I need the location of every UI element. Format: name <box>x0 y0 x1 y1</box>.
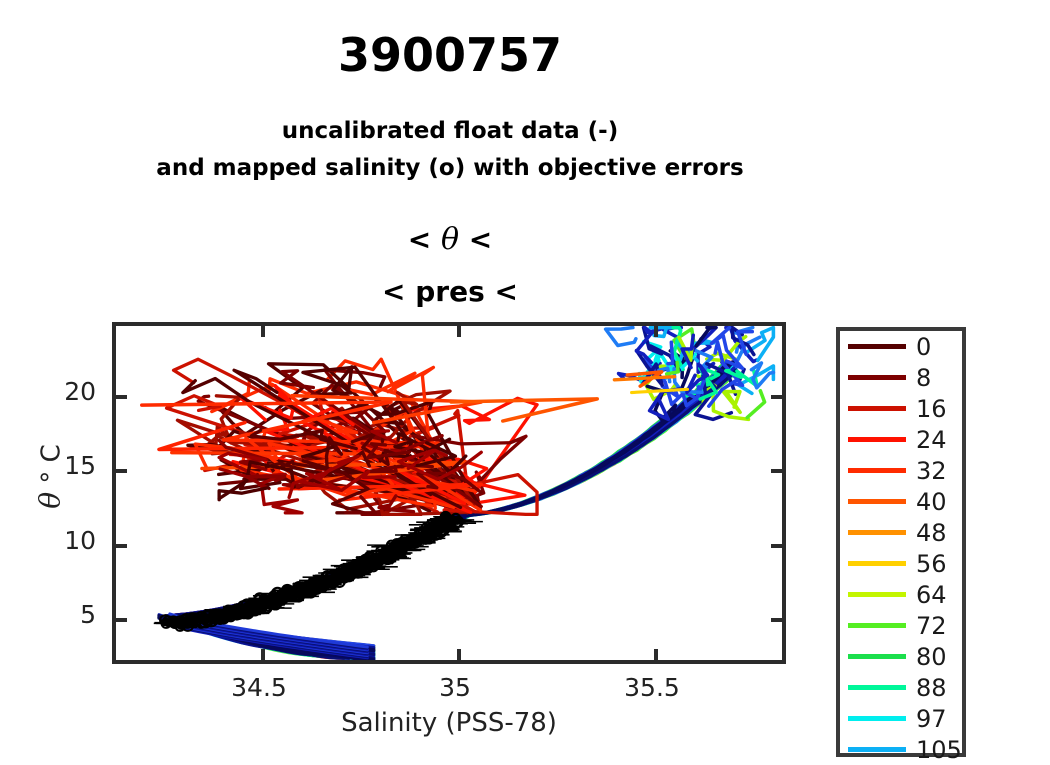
xtick-35-top <box>457 326 461 337</box>
profile-trace <box>456 364 727 516</box>
legend-color-swatch <box>848 344 906 349</box>
profile-trace <box>632 389 688 392</box>
legend-color-swatch <box>848 437 906 442</box>
ytick-5-left <box>116 618 127 622</box>
profile-trace <box>456 365 737 515</box>
xtick-35-bottom <box>457 649 461 660</box>
legend-item-label: 24 <box>916 428 947 452</box>
legend-color-swatch <box>848 592 906 597</box>
profile-trace <box>455 365 725 516</box>
profile-trace <box>455 363 726 516</box>
pres-range-label: < pres < <box>0 275 900 308</box>
ytick-10-right <box>771 544 782 548</box>
ytick-5-right <box>771 618 782 622</box>
pressure-legend[interactable]: 081624324048566472808897105 <box>836 327 966 757</box>
legend-item-label: 64 <box>916 583 947 607</box>
legend-item[interactable]: 16 <box>840 393 962 424</box>
theta-range-label: < θ < <box>0 222 900 257</box>
profile-trace <box>723 392 740 413</box>
xtick-35_5-bottom <box>654 649 658 660</box>
legend-color-swatch <box>848 654 906 659</box>
profile-trace <box>747 391 764 418</box>
profile-trace <box>456 365 726 516</box>
legend-item[interactable]: 56 <box>840 548 962 579</box>
legend-item-label: 16 <box>916 397 947 421</box>
profile-trace <box>668 342 673 363</box>
legend-item-label: 97 <box>916 707 947 731</box>
y-axis-theta-symbol: θ <box>34 492 67 509</box>
legend-color-swatch <box>848 623 906 628</box>
legend-color-swatch <box>848 499 906 504</box>
xtick-35_5-top <box>654 326 658 337</box>
page-title: 3900757 <box>0 32 900 78</box>
legend-color-swatch <box>848 530 906 535</box>
legend-item[interactable]: 64 <box>840 579 962 610</box>
legend-item[interactable]: 40 <box>840 486 962 517</box>
legend-item-label: 40 <box>916 490 947 514</box>
subtitle-line-1: uncalibrated float data (-) <box>0 118 900 144</box>
xtick-34_5-top <box>261 326 265 337</box>
ytick-20-right <box>771 395 782 399</box>
profile-trace <box>456 364 737 516</box>
plot-area[interactable] <box>112 322 786 664</box>
legend-color-swatch <box>848 716 906 721</box>
legend-color-swatch <box>848 375 906 380</box>
legend-color-swatch <box>848 561 906 566</box>
legend-item[interactable]: 32 <box>840 455 962 486</box>
legend-item-label: 72 <box>916 614 947 638</box>
xtick-34_5-bottom <box>261 649 265 660</box>
legend-item-label: 0 <box>916 335 931 359</box>
legend-item-label: 48 <box>916 521 947 545</box>
ytick-15-left <box>116 469 127 473</box>
ytick-15-right <box>771 469 782 473</box>
profile-trace <box>455 362 728 516</box>
profile-trace <box>455 362 729 516</box>
theta-range-suffix: < <box>459 223 492 256</box>
legend-item[interactable]: 88 <box>840 672 962 703</box>
profile-trace <box>456 362 728 516</box>
y-axis-unit: ° C <box>37 444 67 492</box>
legend-color-swatch <box>848 468 906 473</box>
theta-salinity-figure: 3900757 uncalibrated float data (-) and … <box>0 0 1050 750</box>
profile-trace <box>455 362 729 516</box>
xtick-label-35: 35 <box>405 673 505 702</box>
y-axis-label: θ ° C <box>34 397 67 557</box>
profile-trace <box>455 366 736 516</box>
profile-trace <box>455 363 726 516</box>
legend-item[interactable]: 80 <box>840 641 962 672</box>
theta-range-prefix: < <box>408 223 441 256</box>
legend-item-label: 32 <box>916 459 947 483</box>
ytick-20-left <box>116 395 127 399</box>
legend-item[interactable]: 8 <box>840 362 962 393</box>
legend-item-label: 56 <box>916 552 947 576</box>
xtick-label-35_5: 35.5 <box>602 673 702 702</box>
profile-trace <box>606 328 636 346</box>
legend-color-swatch <box>848 685 906 690</box>
legend-item[interactable]: 24 <box>840 424 962 455</box>
legend-item[interactable]: 72 <box>840 610 962 641</box>
legend-item[interactable]: 0 <box>840 331 962 362</box>
xtick-label-34_5: 34.5 <box>209 673 309 702</box>
x-axis-label: Salinity (PSS-78) <box>112 708 786 738</box>
theta-salinity-scatter-svg <box>116 326 782 660</box>
profile-trace <box>456 363 728 516</box>
subtitle-line-2: and mapped salinity (o) with objective e… <box>0 155 900 181</box>
profile-trace <box>455 363 737 516</box>
ytick-10-left <box>116 544 127 548</box>
profile-trace <box>456 362 727 516</box>
ytick-label-5: 5 <box>30 600 96 629</box>
legend-item[interactable]: 48 <box>840 517 962 548</box>
legend-color-swatch <box>848 406 906 411</box>
theta-symbol: θ <box>441 222 459 257</box>
legend-item-label: 88 <box>916 676 947 700</box>
legend-item[interactable]: 97 <box>840 703 962 734</box>
legend-item-label: 80 <box>916 645 947 669</box>
mapped-salinity-marker-layer <box>154 512 483 631</box>
legend-item-label: 8 <box>916 366 931 390</box>
